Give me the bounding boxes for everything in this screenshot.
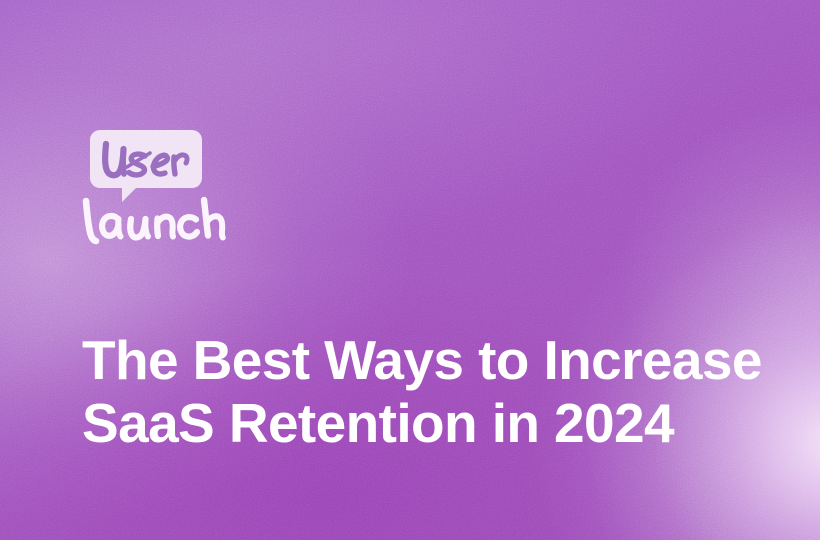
title-line-1: The Best Ways to Increase [82,329,762,392]
background-left-glow [0,0,820,540]
page-title: The Best Ways to Increase SaaS Retention… [82,329,762,455]
background-top-haze [0,0,820,540]
background-deep-pocket [0,0,820,540]
background-grain-texture [0,0,820,540]
cover-image: The Best Ways to Increase SaaS Retention… [0,0,820,540]
logo-word-launch [86,200,223,241]
title-line-2: SaaS Retention in 2024 [82,392,762,455]
background-base-gradient [0,0,820,540]
background-right-glow [0,0,820,540]
background-right-glow-soft [0,0,820,540]
userlaunch-logo [78,122,248,250]
